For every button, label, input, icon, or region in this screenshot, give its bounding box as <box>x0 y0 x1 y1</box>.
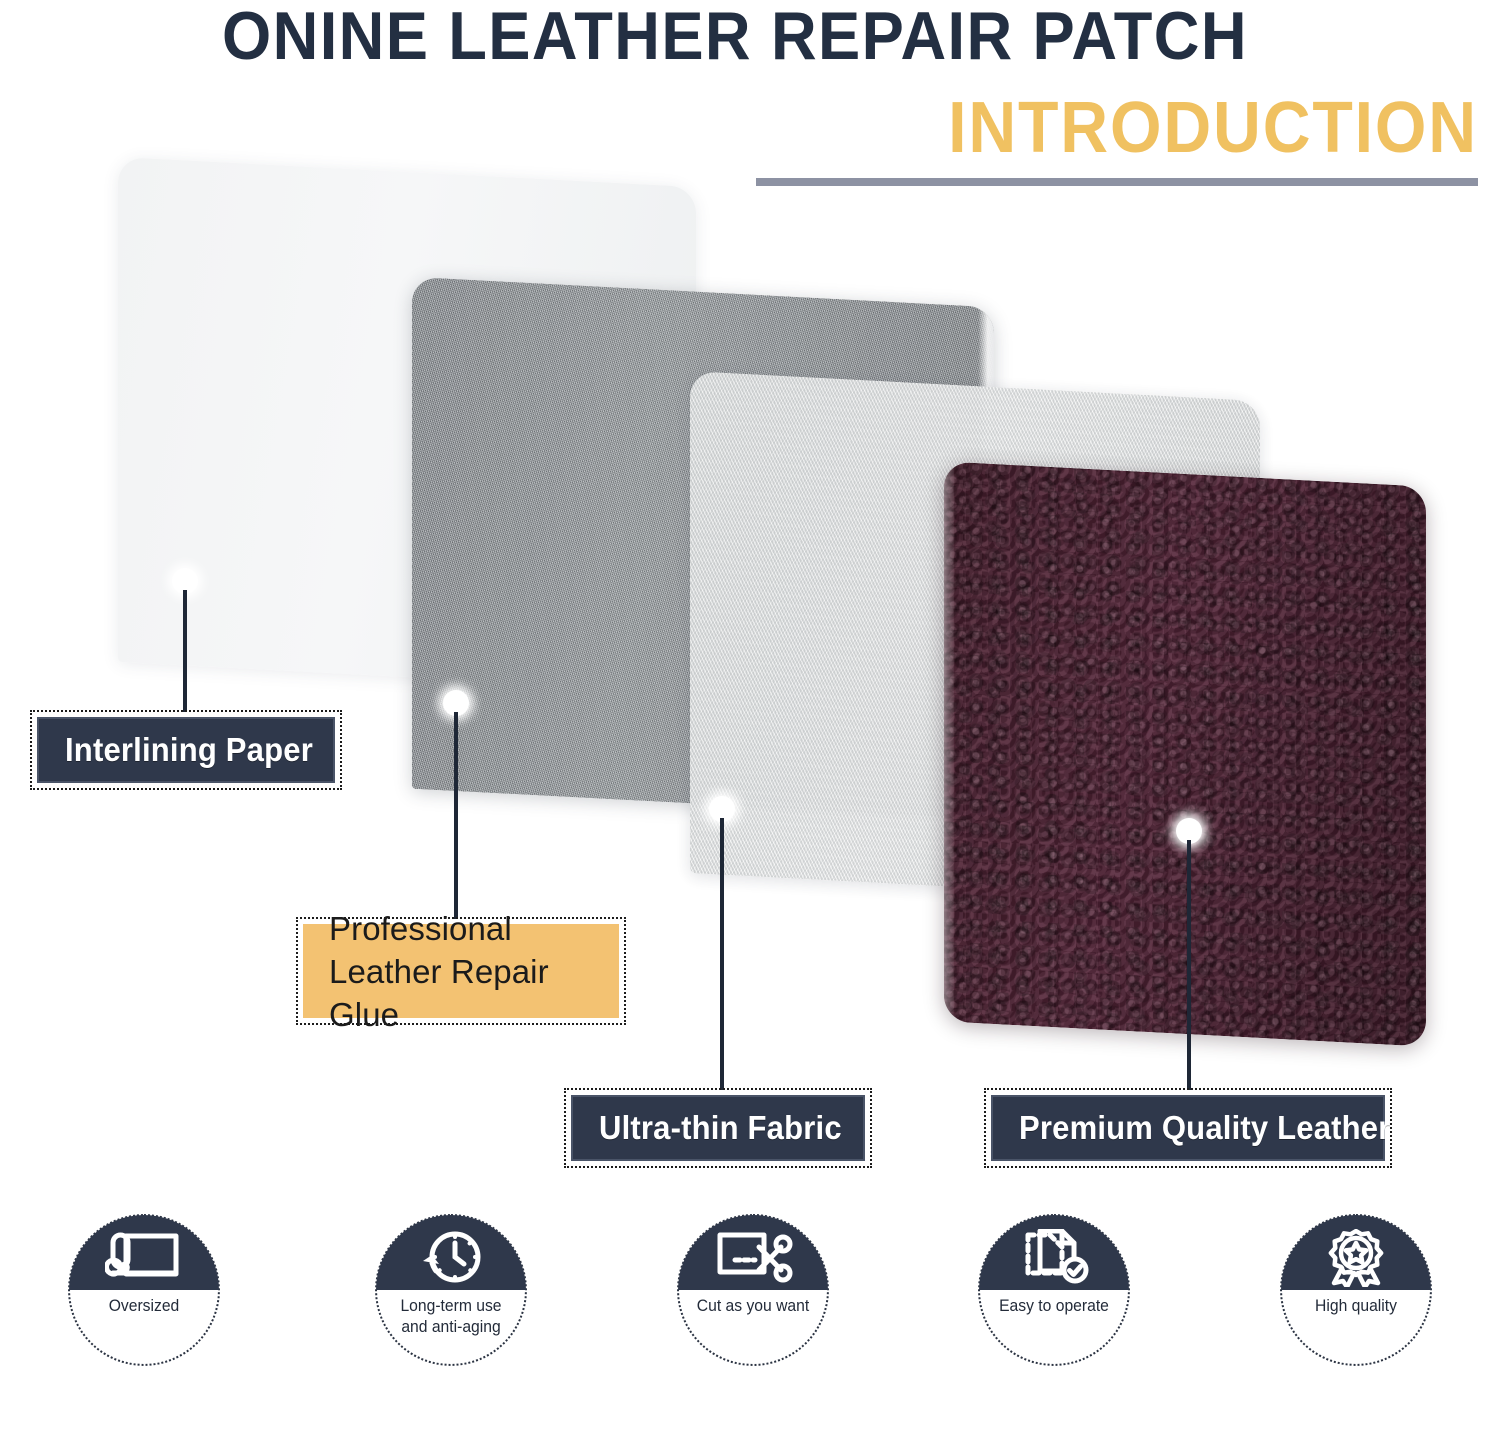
callout-label-line1: Professional <box>329 907 619 950</box>
scissors-cut-icon <box>713 1229 793 1285</box>
fabric-roll-icon <box>105 1229 183 1285</box>
badge-caption-line1: High quality <box>1257 1296 1455 1317</box>
badge-dome <box>678 1215 828 1290</box>
callout-label-line2: Leather Repair Glue <box>329 950 619 1036</box>
badge-caption: Cut as you want <box>654 1296 852 1317</box>
badge-dome <box>69 1215 219 1290</box>
badge-caption-line2: and anti-aging <box>352 1317 550 1338</box>
feature-badge-easy-to-operate: Easy to operate <box>978 1214 1130 1366</box>
clock-refresh-icon <box>413 1229 489 1287</box>
badge-dome <box>376 1215 526 1290</box>
badge-dome <box>1281 1215 1431 1290</box>
badge-caption-line1: Cut as you want <box>654 1296 852 1317</box>
document-check-icon <box>1018 1229 1090 1287</box>
callout-line-interlining-paper <box>183 590 187 712</box>
callout-label: Ultra-thin Fabric <box>599 1110 842 1146</box>
badge-caption: High quality <box>1257 1296 1455 1317</box>
callout-label: Premium Quality Leather <box>1019 1110 1391 1146</box>
feature-badge-high-quality: High quality <box>1280 1214 1432 1366</box>
callout-fill: Interlining Paper <box>37 717 335 783</box>
callout-ultra-thin-fabric: Ultra-thin Fabric <box>564 1088 872 1168</box>
callout-fill: Ultra-thin Fabric <box>571 1095 865 1161</box>
callout-interlining-paper: Interlining Paper <box>30 710 342 790</box>
badge-caption-line1: Long-term use <box>352 1296 550 1317</box>
feature-badge-row: Oversized <box>0 1214 1500 1404</box>
callout-fill: Premium Quality Leather <box>991 1095 1385 1161</box>
callout-line-repair-glue <box>454 712 458 919</box>
layer-stack-diagram: Interlining Paper Professional Leather R… <box>0 0 1500 1180</box>
badge-dome <box>979 1215 1129 1290</box>
award-badge-icon <box>1321 1229 1391 1287</box>
feature-badge-cut-as-you-want: Cut as you want <box>677 1214 829 1366</box>
badge-caption-line1: Oversized <box>45 1296 243 1317</box>
feature-badge-oversized: Oversized <box>68 1214 220 1366</box>
badge-caption: Long-term use and anti-aging <box>352 1296 550 1338</box>
feature-badge-long-term-use: Long-term use and anti-aging <box>375 1214 527 1366</box>
callout-line-premium-leather <box>1187 840 1191 1090</box>
badge-caption: Oversized <box>45 1296 243 1317</box>
callout-label: Interlining Paper <box>65 732 313 768</box>
callout-premium-leather: Premium Quality Leather <box>984 1088 1392 1168</box>
callout-line-ultra-thin-fabric <box>720 818 724 1090</box>
callout-repair-glue: Professional Leather Repair Glue <box>296 917 626 1025</box>
callout-fill: Professional Leather Repair Glue <box>303 924 619 1018</box>
badge-caption-line1: Easy to operate <box>955 1296 1153 1317</box>
badge-caption: Easy to operate <box>955 1296 1153 1317</box>
layer-premium-leather <box>944 461 1426 1046</box>
